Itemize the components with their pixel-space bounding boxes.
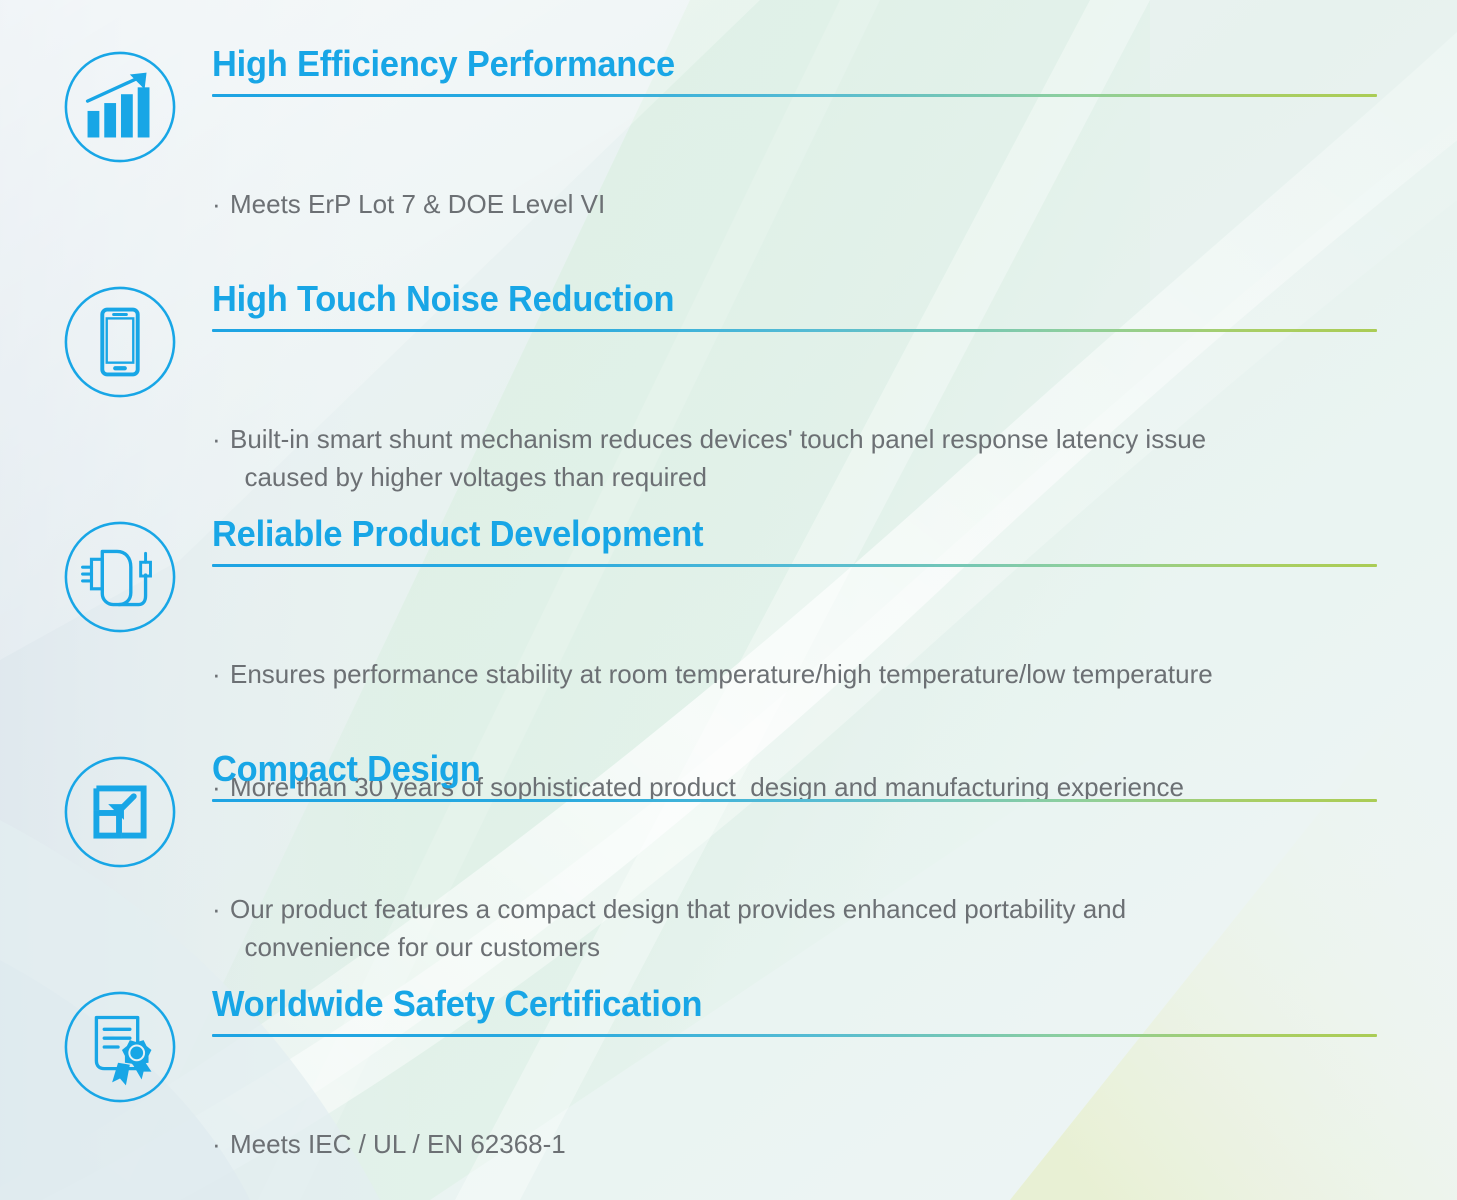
feature-title: High Efficiency Performance — [212, 46, 1334, 83]
feature-bullet: Ensures performance stability at room te… — [212, 656, 1387, 694]
feature-title: Reliable Product Development — [212, 516, 1334, 553]
feature-bullet: Our product features a compact design th… — [212, 891, 1387, 966]
feature-icon-wrapper — [57, 281, 182, 401]
feature-icon-wrapper — [57, 516, 182, 636]
feature-icon-wrapper — [57, 751, 182, 871]
feature-bullet: Meets ErP Lot 7 & DOE Level VI — [212, 186, 1387, 224]
feature-list: High Efficiency Performance Meets ErP Lo… — [0, 0, 1457, 1200]
feature-item-high-efficiency-performance: High Efficiency Performance Meets ErP Lo… — [0, 46, 1457, 299]
feature-title: Compact Design — [212, 751, 1334, 788]
power-adapter-icon — [61, 518, 179, 636]
feature-bullet: Meets IEC / UL / EN 62368-1 — [212, 1126, 1387, 1164]
feature-divider — [212, 329, 1377, 332]
feature-description: Meets IEC / UL / EN 62368-1 — [212, 1051, 1387, 1200]
feature-divider — [212, 1034, 1377, 1037]
feature-description: Meets ErP Lot 7 & DOE Level VI — [212, 111, 1387, 299]
feature-body: Worldwide Safety Certification Meets IEC… — [212, 986, 1387, 1200]
feature-divider — [212, 799, 1377, 802]
feature-body: High Efficiency Performance Meets ErP Lo… — [212, 46, 1387, 299]
compact-resize-icon — [61, 753, 179, 871]
feature-title: Worldwide Safety Certification — [212, 986, 1334, 1023]
bar-chart-growth-icon — [61, 48, 179, 166]
certificate-award-icon — [61, 988, 179, 1106]
feature-bullet: Built-in smart shunt mechanism reduces d… — [212, 421, 1387, 496]
feature-item-worldwide-safety-certification: Worldwide Safety Certification Meets IEC… — [0, 986, 1457, 1200]
feature-icon-wrapper — [57, 986, 182, 1106]
feature-icon-wrapper — [57, 46, 182, 166]
feature-divider — [212, 94, 1377, 97]
smartphone-icon — [61, 283, 179, 401]
feature-divider — [212, 564, 1377, 567]
feature-title: High Touch Noise Reduction — [212, 281, 1334, 318]
